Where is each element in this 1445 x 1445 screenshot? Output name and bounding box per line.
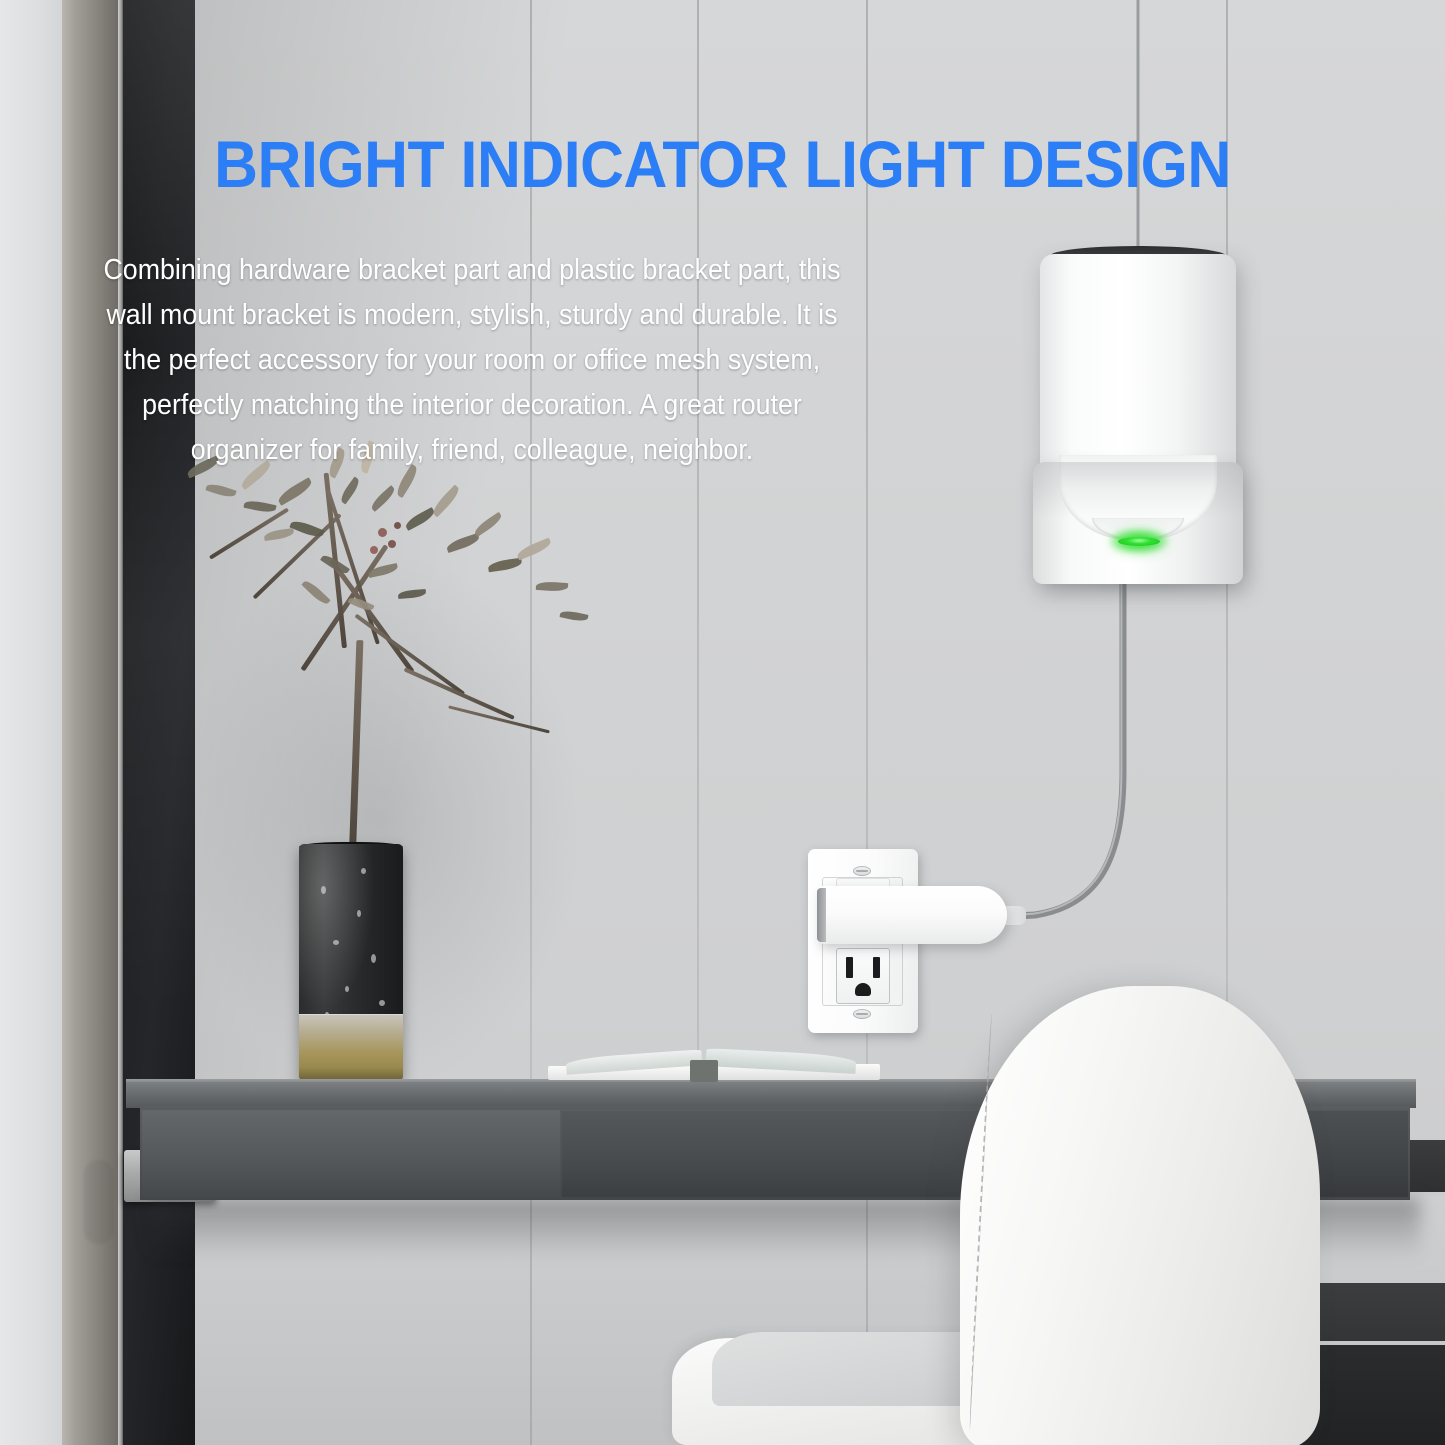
outlet-ground-hole [855, 983, 871, 996]
chair-backrest [960, 986, 1320, 1445]
outlet-slot-neutral [846, 957, 853, 978]
door-knob [84, 1160, 114, 1244]
adapter-end-cap [817, 888, 826, 942]
page-title: BRIGHT INDICATOR LIGHT DESIGN [58, 131, 1387, 197]
outlet-screw-bottom [853, 1009, 871, 1019]
outlet-screw-top [853, 866, 871, 876]
outlet-slot-hot [873, 957, 880, 978]
wall-edge-left [0, 0, 64, 1445]
indicator-light-icon [1118, 537, 1160, 546]
open-magazine [548, 1040, 880, 1084]
description-paragraph: Combining hardware bracket part and plas… [96, 248, 848, 473]
vase-brass-base [299, 1014, 403, 1080]
power-adapter [817, 886, 1007, 944]
bracket-lip-shading [1033, 462, 1243, 518]
product-lifestyle-image: BRIGHT INDICATOR LIGHT DESIGN Combining … [0, 0, 1445, 1445]
desk-drawer[interactable] [142, 1110, 560, 1197]
desk-drawer[interactable] [562, 1110, 982, 1197]
